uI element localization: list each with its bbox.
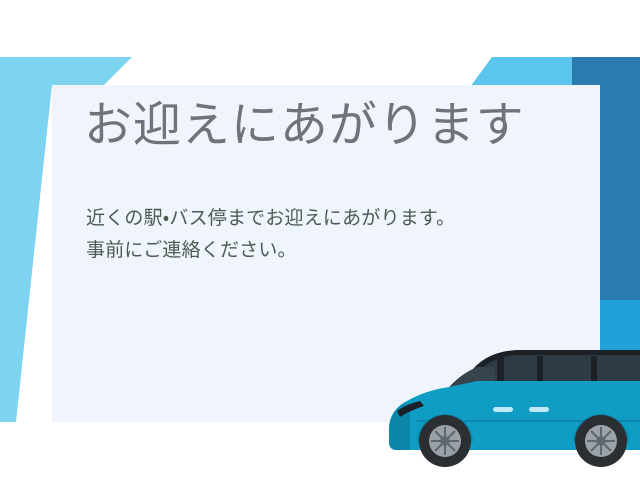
description-text: 近くの駅・バス停までお迎えにあがります。 事前にご連絡ください。: [86, 203, 455, 267]
car-rear-wheel: [575, 415, 627, 467]
car-front-wheel: [419, 415, 471, 467]
description-line-2: 事前にご連絡ください。: [86, 235, 455, 267]
car-front-light-slit: [394, 418, 401, 437]
decor-top-light-blue-band: [470, 57, 590, 87]
decor-right-dark-blue-band: [600, 57, 640, 357]
promo-banner: お迎えにあがります 近くの駅・バス停までお迎えにあがります。 事前にご連絡くださ…: [0, 0, 640, 480]
minivan-illustration: [377, 337, 640, 472]
car-door-handle-rear: [529, 407, 549, 412]
car-door-handle-front: [493, 407, 513, 412]
description-line-1: 近くの駅・バス停までお迎えにあがります。: [86, 203, 455, 235]
page-title: お迎えにあがります: [84, 99, 525, 153]
content-panel: お迎えにあがります 近くの駅・バス停までお迎えにあがります。 事前にご連絡くださ…: [52, 85, 600, 422]
decor-top-dark-blue-band: [572, 57, 640, 87]
